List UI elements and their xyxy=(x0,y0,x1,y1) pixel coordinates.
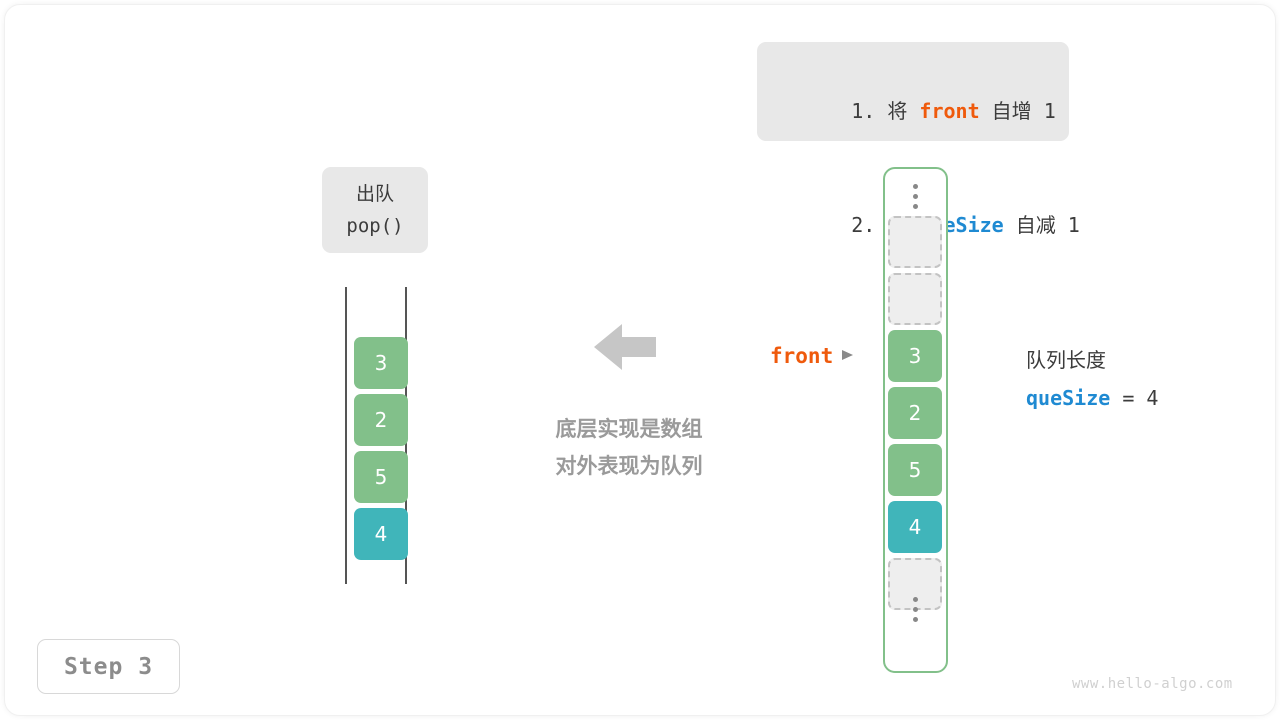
array-view-cells: 3254 xyxy=(888,216,944,615)
array-empty-cell xyxy=(888,273,942,325)
watermark: www.hello-algo.com xyxy=(1072,676,1233,692)
instruction-line-1-prefix: 1. 将 xyxy=(851,99,919,123)
queue-size-equals: = xyxy=(1110,386,1146,410)
instruction-line-1: 1. 将 front 自增 1 xyxy=(779,54,1047,168)
array-top-ellipsis-icon xyxy=(885,184,946,209)
array-cell: 4 xyxy=(888,501,942,553)
array-bottom-ellipsis-icon xyxy=(885,597,946,622)
instruction-line-1-keyword: front xyxy=(919,99,979,123)
queue-rail-left xyxy=(345,287,347,584)
pop-operation-label: 出队 pop() xyxy=(322,167,428,253)
step-badge: Step 3 xyxy=(37,639,180,694)
array-view-container: 3254 xyxy=(883,167,948,673)
queue-view-column: 3254 xyxy=(345,287,407,584)
instruction-callout: 1. 将 front 自增 1 2. 将 queSize 自减 1 xyxy=(757,42,1069,141)
queue-cell: 3 xyxy=(354,337,408,389)
implementation-caption-line2: 对外表现为队列 xyxy=(529,448,729,485)
array-cell: 5 xyxy=(888,444,942,496)
pop-label-code: pop() xyxy=(322,210,428,242)
array-cell: 2 xyxy=(888,387,942,439)
implementation-caption: 底层实现是数组 对外表现为队列 xyxy=(529,411,729,485)
front-pointer: front xyxy=(770,344,855,368)
queue-view-cells: 3254 xyxy=(354,337,410,565)
pop-label-title: 出队 xyxy=(322,178,428,210)
queue-size-annotation: 队列长度 queSize = 4 xyxy=(1026,341,1158,417)
queue-cell: 5 xyxy=(354,451,408,503)
implementation-caption-line1: 底层实现是数组 xyxy=(529,411,729,448)
array-empty-cell xyxy=(888,216,942,268)
front-pointer-arrow-icon xyxy=(841,347,855,366)
queue-size-title: 队列长度 xyxy=(1026,341,1158,379)
queue-size-expression: queSize = 4 xyxy=(1026,379,1158,417)
queue-size-value: 4 xyxy=(1146,386,1158,410)
queue-cell: 4 xyxy=(354,508,408,560)
queue-cell: 2 xyxy=(354,394,408,446)
queue-size-var: queSize xyxy=(1026,386,1110,410)
instruction-line-1-suffix: 自增 1 xyxy=(980,99,1056,123)
instruction-line-2-suffix: 自减 1 xyxy=(1004,213,1080,237)
transform-arrow-icon xyxy=(594,322,656,372)
front-pointer-label: front xyxy=(770,344,833,368)
diagram-canvas: 1. 将 front 自增 1 2. 将 queSize 自减 1 出队 pop… xyxy=(0,0,1280,720)
array-cell: 3 xyxy=(888,330,942,382)
